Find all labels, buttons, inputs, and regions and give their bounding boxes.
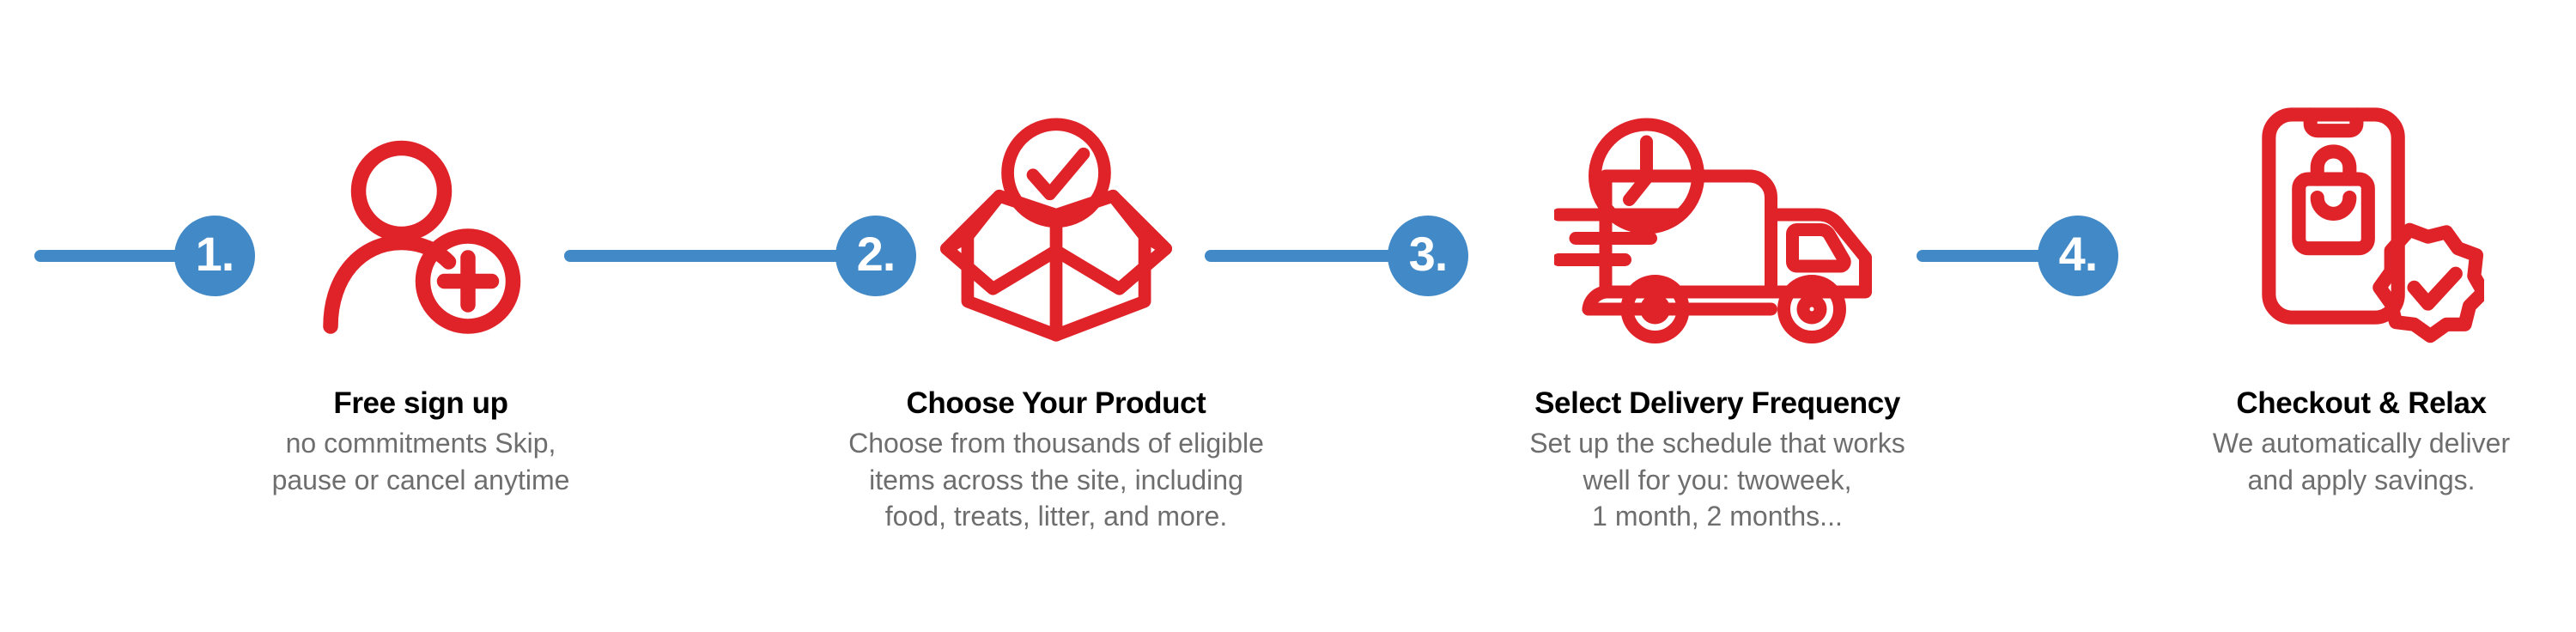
step-badge-3[interactable]: 3.	[1388, 216, 1468, 296]
step-caption-2: Choose Your Product Choose from thousand…	[756, 386, 1357, 535]
step-body-line: Set up the schedule that works	[1425, 425, 2009, 462]
step-body-line: and apply savings.	[2147, 462, 2576, 499]
step-body-line: Choose from thousands of eligible	[756, 425, 1357, 462]
step-title-4: Checkout & Relax	[2147, 386, 2576, 420]
phone-shopping-verified-icon	[2254, 99, 2486, 352]
step-body-line: We automatically deliver	[2147, 425, 2576, 462]
step-number-4: 4.	[2059, 230, 2098, 278]
step-badge-4[interactable]: 4.	[2038, 216, 2118, 296]
step-number-2: 2.	[857, 230, 896, 278]
step-body-3: Set up the schedule that works well for …	[1425, 425, 2009, 535]
step-body-2: Choose from thousands of eligible items …	[756, 425, 1357, 535]
step-body-line: pause or cancel anytime	[155, 462, 687, 499]
step-body-line: well for you: twoweek,	[1425, 462, 2009, 499]
open-box-check-icon	[936, 107, 1176, 348]
step-body-line: 1 month, 2 months...	[1425, 498, 2009, 535]
step-body-4: We automatically deliver and apply savin…	[2147, 425, 2576, 498]
user-add-icon	[309, 120, 532, 343]
step-title-2: Choose Your Product	[756, 386, 1357, 420]
step-number-3: 3.	[1409, 230, 1448, 278]
step-body-line: items across the site, including	[756, 462, 1357, 499]
step-title-1: Free sign up	[155, 386, 687, 420]
step-caption-4: Checkout & Relax We automatically delive…	[2147, 386, 2576, 498]
process-diagram: 1. Free sign up no commitments Skip, pau…	[0, 0, 2576, 632]
step-number-1: 1.	[196, 230, 234, 278]
step-body-1: no commitments Skip, pause or cancel any…	[155, 425, 687, 498]
step-title-3: Select Delivery Frequency	[1425, 386, 2009, 420]
delivery-truck-clock-icon	[1550, 107, 1893, 348]
step-body-line: no commitments Skip,	[155, 425, 687, 462]
step-badge-1[interactable]: 1.	[174, 216, 255, 296]
step-caption-1: Free sign up no commitments Skip, pause …	[155, 386, 687, 498]
step-caption-3: Select Delivery Frequency Set up the sch…	[1425, 386, 2009, 535]
step-body-line: food, treats, litter, and more.	[756, 498, 1357, 535]
step-badge-2[interactable]: 2.	[835, 216, 916, 296]
